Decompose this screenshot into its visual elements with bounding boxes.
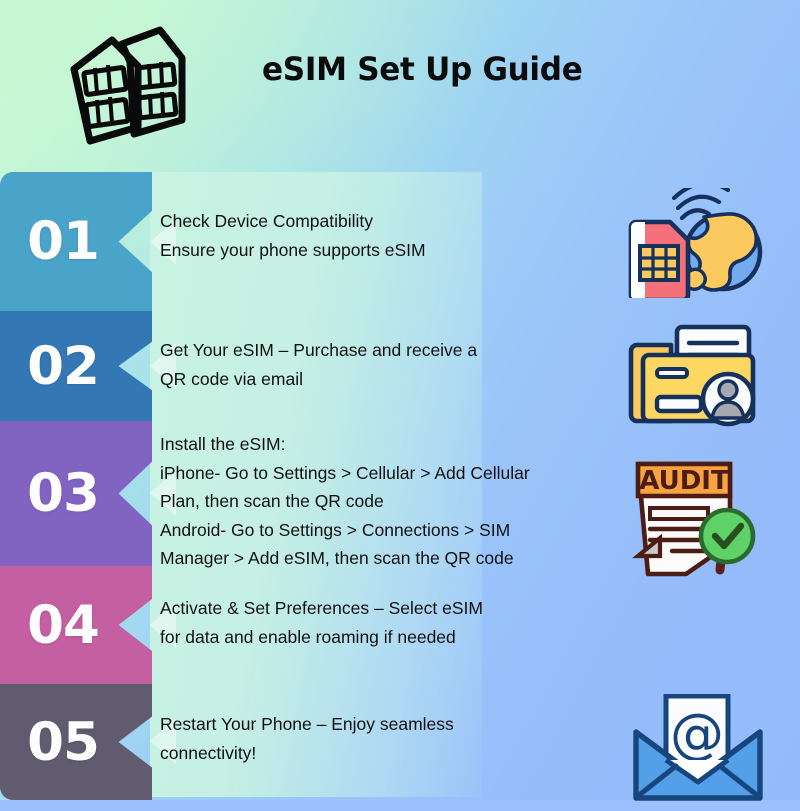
list-item[interactable]: 05 Restart Your Phone – Enjoy seamless c… <box>0 684 800 800</box>
step-line: connectivity! <box>160 739 590 768</box>
step-number: 05 <box>27 712 99 773</box>
step-line: Get Your eSIM – Purchase and receive a <box>160 336 590 365</box>
step-number: 02 <box>27 336 99 397</box>
list-item[interactable]: 01 Check Device Compatibility Ensure you… <box>0 172 800 311</box>
at-sign-icon: @ <box>670 702 724 765</box>
list-item[interactable]: 02 Get Your eSIM – Purchase and receive … <box>0 311 800 421</box>
step-text: Check Device Compatibility Ensure your p… <box>160 207 590 264</box>
step-text: Get Your eSIM – Purchase and receive a Q… <box>160 336 590 393</box>
step-number-bar: 02 <box>0 311 152 421</box>
step-line: Plan, then scan the QR code <box>160 487 610 516</box>
step-line: Check Device Compatibility <box>160 207 590 236</box>
step-number: 03 <box>27 463 99 524</box>
step-text: Install the eSIM: iPhone- Go to Settings… <box>160 430 610 573</box>
list-item[interactable]: 03 Install the eSIM: iPhone- Go to Setti… <box>0 421 800 566</box>
step-number: 04 <box>27 595 99 656</box>
step-line: iPhone- Go to Settings > Cellular > Add … <box>160 459 610 488</box>
folder-document-user-icon <box>625 319 770 434</box>
header: eSIM Set Up Guide <box>0 0 800 170</box>
step-number: 01 <box>27 211 99 272</box>
step-text: Activate & Set Preferences – Select eSIM… <box>160 594 590 651</box>
step-line: Ensure your phone supports eSIM <box>160 236 590 265</box>
step-line: Android- Go to Settings > Connections > … <box>160 516 610 545</box>
step-line: for data and enable roaming if needed <box>160 623 590 652</box>
sim-card-globe-signal-icon <box>622 188 772 303</box>
list-item[interactable]: 04 Activate & Set Preferences – Select e… <box>0 566 800 684</box>
email-envelope-at-icon: @ <box>628 694 768 811</box>
step-number-bar: 01 <box>0 172 152 311</box>
page-title: eSIM Set Up Guide <box>262 50 582 88</box>
step-text: Restart Your Phone – Enjoy seamless conn… <box>160 710 590 767</box>
step-line: Restart Your Phone – Enjoy seamless <box>160 710 590 739</box>
step-number-bar: 04 <box>0 566 152 684</box>
step-line: Activate & Set Preferences – Select eSIM <box>160 594 590 623</box>
step-number-bar: 03 <box>0 421 152 566</box>
step-number-bar: 05 <box>0 684 152 800</box>
steps-list: 01 Check Device Compatibility Ensure you… <box>0 172 800 800</box>
audit-label: AUDIT <box>639 466 729 496</box>
step-line: Install the eSIM: <box>160 430 610 459</box>
step-line: QR code via email <box>160 365 590 394</box>
audit-document-check-icon: AUDIT <box>628 456 768 583</box>
dual-sim-cards-icon <box>60 22 210 152</box>
